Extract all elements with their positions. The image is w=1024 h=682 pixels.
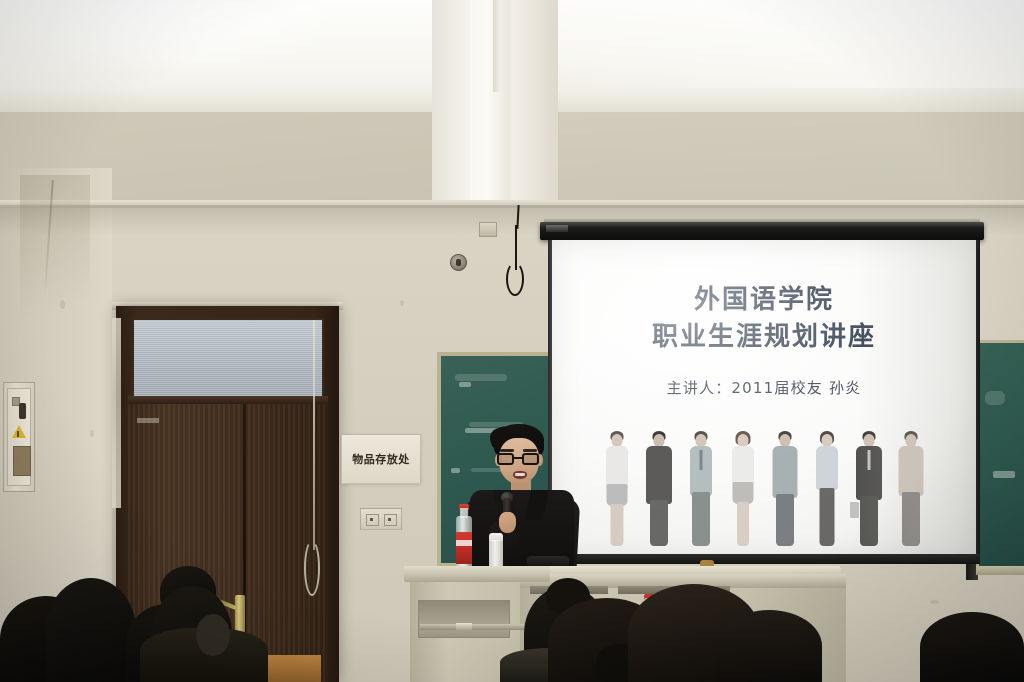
student-face-profile <box>196 614 230 656</box>
outlet-pin <box>388 518 391 521</box>
figure-skirt <box>607 484 628 506</box>
electrical-panel-latch <box>19 403 26 419</box>
chalk-smudge <box>985 391 1005 405</box>
figure-legs <box>650 500 668 546</box>
chalk-mark <box>459 382 471 387</box>
slide-figure-woman-blue-top <box>810 430 844 548</box>
wall-blemish <box>400 300 404 306</box>
storage-area-sign: 物品存放处 <box>341 434 421 484</box>
pull-ring-center <box>456 259 461 266</box>
slide-figure-man-beige-jacket <box>894 430 928 548</box>
speaker-hand <box>499 512 516 533</box>
ceiling-light-glow <box>20 0 350 74</box>
figure-legs <box>820 488 835 546</box>
chalk-mark <box>455 374 507 381</box>
glasses-lens-right <box>522 453 539 465</box>
speaker-teeth <box>515 473 525 476</box>
projector-screen-weight-bar <box>548 554 980 564</box>
slide-subtitle: 主讲人：2011届校友 孙炎 <box>667 377 862 398</box>
student-head <box>46 578 136 682</box>
figure-legs <box>737 502 749 546</box>
presentation-slide: 外国语学院 职业生涯规划讲座 主讲人：2011届校友 孙炎 <box>552 240 976 560</box>
slide-figure-man-grey-suit <box>768 430 802 548</box>
electrical-panel-window <box>13 446 31 476</box>
slide-figure-row <box>552 420 976 548</box>
glasses-bridge <box>514 457 522 459</box>
slide-title: 外国语学院 职业生涯规划讲座 <box>652 282 876 356</box>
glasses-icon <box>497 453 541 465</box>
figure-legs <box>776 494 794 546</box>
door-hanging-cord[interactable] <box>313 320 315 550</box>
chalkboard-tray <box>976 566 1024 575</box>
figure-tie <box>700 450 703 470</box>
podium-tray-knob[interactable] <box>456 623 472 630</box>
figure-torso <box>899 446 924 496</box>
hanging-cable-loop <box>506 262 524 296</box>
wall-blemish <box>60 300 65 309</box>
slide-title-line1: 外国语学院 <box>652 282 876 319</box>
wall-power-outlet[interactable] <box>360 508 402 530</box>
slide-title-line2: 职业生涯规划讲座 <box>652 319 876 356</box>
glasses-lens-left <box>497 453 514 465</box>
wall-blemish <box>930 600 939 604</box>
projector-screen: 外国语学院 职业生涯规划讲座 主讲人：2011届校友 孙炎 <box>552 240 976 560</box>
figure-briefcase <box>850 502 859 518</box>
water-bottle-label-stripe <box>456 540 472 546</box>
lightning-bolt-icon <box>17 431 19 437</box>
storage-area-sign-text: 物品存放处 <box>352 451 410 467</box>
slide-figure-woman-white-blouse <box>726 430 760 548</box>
speaker-eyebrow-left <box>500 449 514 452</box>
speaker-eyebrow-right <box>523 449 537 452</box>
wall-stain <box>20 175 90 365</box>
wall-blemish <box>90 430 94 437</box>
student-head <box>716 610 822 682</box>
figure-legs <box>860 496 878 546</box>
ceiling-conduit <box>493 0 500 92</box>
podium-left-top <box>404 566 550 582</box>
podium-tray-rail <box>420 624 524 630</box>
slide-figure-man-black-suit <box>852 430 886 548</box>
wall-junction-box <box>479 222 497 237</box>
door-transom-window <box>132 318 324 398</box>
door-cord-loop <box>304 540 320 596</box>
figure-skirt <box>733 482 754 504</box>
chalkboard-right <box>976 340 1024 572</box>
ceiling-beam-vertical-inner <box>470 0 510 228</box>
door-small-label <box>137 418 159 423</box>
water-bottle-label <box>456 532 472 564</box>
frosted-glass-texture <box>134 320 322 396</box>
figure-legs <box>692 492 710 546</box>
figure-legs <box>611 504 624 546</box>
figure-tie <box>868 450 871 470</box>
outlet-pin <box>370 518 373 521</box>
projector-screen-end-cap <box>546 225 568 232</box>
electrical-panel[interactable] <box>3 382 35 492</box>
chalk-mark <box>993 471 1015 478</box>
door-handle-plate[interactable] <box>235 595 245 635</box>
student-head <box>920 612 1024 682</box>
figure-legs <box>902 492 920 546</box>
figure-torso <box>773 446 798 498</box>
podium-pullout-tray[interactable] <box>418 600 510 638</box>
figure-torso <box>732 446 754 486</box>
chalk-mark <box>451 468 460 473</box>
warning-triangle-icon <box>12 425 26 438</box>
slide-figure-man-dark-coat <box>642 430 676 548</box>
slide-figure-man-teal-suit <box>684 430 718 548</box>
figure-torso <box>816 446 838 490</box>
projector-screen-housing[interactable] <box>540 222 984 240</box>
figure-torso <box>646 446 672 504</box>
slide-figure-woman-white-top <box>600 430 634 548</box>
door-frame-paint-chip <box>112 318 121 508</box>
ceiling-surface-right <box>556 0 1024 100</box>
classroom-lecture-photo: 物品存放处 外国语学院 职业生涯规划讲座 主讲人：2011届校友 孙炎 <box>0 0 1024 682</box>
